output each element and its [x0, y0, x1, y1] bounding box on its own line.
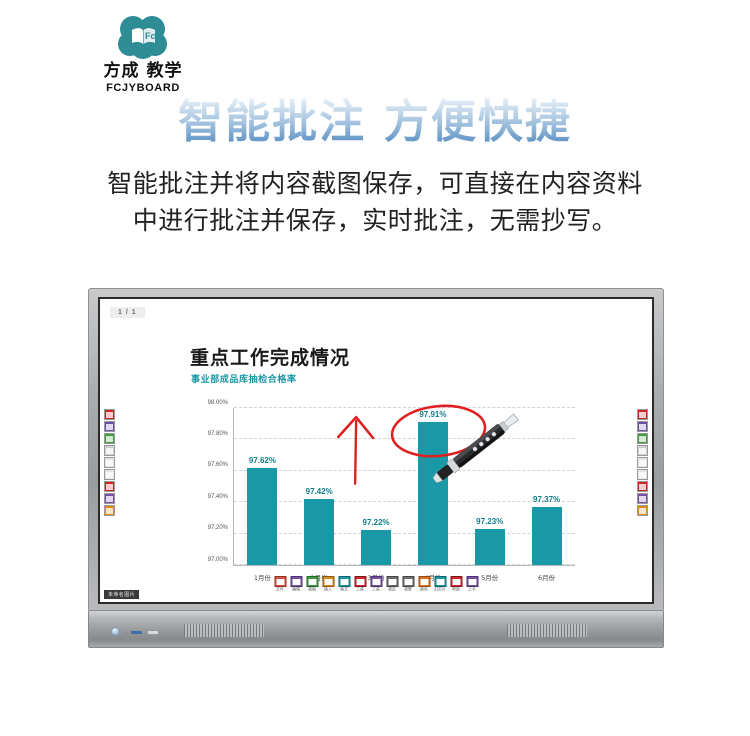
device-screen-frame: 1 / 1 未命名图片 重点工作完成情况 事业部成品库抽检合格率 98.00%9… — [98, 297, 654, 604]
bar-group: 97.22%3月份 — [348, 408, 405, 565]
toolbar-item[interactable]: 工具 — [354, 576, 367, 592]
device-chin — [88, 610, 664, 648]
status-led-b — [131, 631, 142, 634]
toolbar-item[interactable]: 格式 — [338, 576, 351, 592]
toolbar-item-label: 上手 — [464, 587, 480, 593]
y-axis-tick-label: 97.80% — [208, 431, 228, 437]
y-axis-tick-label: 97.60% — [208, 462, 228, 468]
screen[interactable]: 1 / 1 未命名图片 重点工作完成情况 事业部成品库抽检合格率 98.00%9… — [100, 299, 652, 602]
eraser-icon[interactable] — [637, 481, 648, 492]
speaker-grille-right — [507, 624, 587, 637]
toolbar-item[interactable]: 编辑 — [290, 576, 303, 592]
x-axis-tick-label: 1月份 — [254, 572, 271, 582]
toolbar-item-label: 格式 — [336, 587, 352, 593]
status-led-a — [125, 631, 127, 634]
toolbar-item-label: 视图 — [304, 587, 320, 593]
page-indicator: 1 / 1 — [110, 307, 145, 318]
speaker-grille-left — [184, 624, 264, 637]
subcopy-line-1: 智能批注并将内容截图保存，可直接在内容资料 — [0, 165, 750, 202]
y-axis-tick-label: 98.00% — [208, 400, 228, 406]
draw-icon[interactable] — [370, 576, 382, 587]
toolbar-item-label: 插入 — [320, 587, 336, 593]
screenshot-icon[interactable] — [637, 493, 648, 504]
screenshot-icon[interactable] — [104, 493, 115, 504]
save-icon[interactable] — [637, 505, 648, 516]
file-icon[interactable] — [274, 576, 286, 587]
left-tool-rail[interactable] — [104, 409, 115, 517]
bar-value-label: 97.22% — [362, 518, 389, 527]
device-bezel: 1 / 1 未命名图片 重点工作完成情况 事业部成品库抽检合格率 98.00%9… — [88, 288, 664, 612]
toolbar-item-label: 工具 — [368, 587, 384, 593]
color-grid-icon[interactable] — [418, 576, 430, 587]
toolbar-item-label: 视定 — [384, 587, 400, 593]
bar-value-label: 97.23% — [476, 517, 503, 526]
toolbar-item[interactable]: 上手 — [466, 576, 479, 592]
bar — [361, 530, 391, 565]
slides-icon[interactable] — [434, 576, 446, 587]
thin-line-icon[interactable] — [637, 445, 648, 456]
brand-name-en: FCJYBOARD — [78, 81, 208, 95]
toolbar-item[interactable]: 幻灯片 — [434, 576, 447, 592]
bar-value-label: 97.42% — [306, 487, 333, 496]
y-axis-tick-label: 97.20% — [208, 525, 228, 531]
bar-value-label: 97.37% — [533, 495, 560, 504]
bar — [304, 499, 334, 565]
view-icon[interactable] — [306, 576, 318, 587]
tools-icon[interactable] — [354, 576, 366, 587]
toolbar-item[interactable]: 视图 — [306, 576, 319, 592]
power-button[interactable] — [111, 627, 120, 636]
person-icon[interactable] — [466, 576, 478, 587]
save-icon[interactable] — [104, 505, 115, 516]
pen-tool-icon[interactable] — [637, 409, 648, 420]
ir-receiver — [147, 630, 159, 635]
insert-icon[interactable] — [322, 576, 334, 587]
toolbar-item[interactable]: 插入 — [322, 576, 335, 592]
slide-subtitle: 事业部成品库抽检合格率 — [191, 372, 297, 385]
x-axis-tick-label: 6月份 — [538, 572, 555, 582]
toolbar-item-label: 文件 — [272, 587, 288, 593]
highlighter-tool-icon[interactable] — [104, 421, 115, 432]
bottom-toolbar[interactable]: 文件编辑视图插入格式工具工具视定视野颜色幻灯片帮助上手 — [274, 576, 479, 592]
color-palette-icon[interactable] — [637, 433, 648, 444]
toolbar-item-label: 视野 — [400, 587, 416, 593]
toolbar-item-label: 颜色 — [416, 587, 432, 593]
undo-icon[interactable] — [104, 457, 115, 468]
toolbar-item-label: 帮助 — [448, 587, 464, 593]
brand-name-cn: 方成 教学 — [78, 62, 208, 81]
bar-value-label: 97.62% — [249, 456, 276, 465]
toolbar-item-label: 幻灯片 — [432, 587, 448, 593]
help-icon[interactable] — [450, 576, 462, 587]
slide-title: 重点工作完成情况 — [190, 343, 350, 370]
eraser-icon[interactable] — [104, 481, 115, 492]
toolbar-item-label: 编辑 — [288, 587, 304, 593]
edit-icon[interactable] — [290, 576, 302, 587]
right-tool-rail[interactable] — [637, 409, 648, 517]
page-headline: 智能批注 方便快捷 — [0, 95, 750, 149]
page-subcopy: 智能批注并将内容截图保存，可直接在内容资料 中进行批注并保存，实时批注，无需抄写… — [0, 165, 750, 239]
stylus-pen-icon — [415, 399, 535, 499]
status-badge: 未命名图片 — [104, 590, 139, 599]
color-palette-icon[interactable] — [104, 433, 115, 444]
toolbar-item[interactable]: 视定 — [386, 576, 399, 592]
redo-icon[interactable] — [104, 469, 115, 480]
bar — [247, 468, 277, 565]
undo-icon[interactable] — [637, 457, 648, 468]
x-axis-tick-label: 5月份 — [481, 572, 498, 582]
brand-logo: Fc 方成 教学 FCJYBOARD — [78, 16, 208, 92]
y-axis-tick-label: 97.40% — [208, 494, 228, 500]
bar-group: 97.62%1月份 — [234, 408, 291, 565]
flower-book-logo-icon: Fc — [118, 16, 168, 60]
bar — [532, 507, 562, 565]
text-lines-icon[interactable] — [386, 576, 398, 587]
bar-group: 97.42%2月份 — [291, 408, 348, 565]
bar — [475, 529, 505, 565]
redo-icon[interactable] — [637, 469, 648, 480]
svg-text:Fc: Fc — [145, 31, 156, 41]
subcopy-line-2: 中进行批注并保存，实时批注，无需抄写。 — [0, 202, 750, 239]
highlighter-tool-icon[interactable] — [637, 421, 648, 432]
book-icon: Fc — [131, 26, 156, 46]
toolbar-item[interactable]: 视野 — [402, 576, 415, 592]
thin-line-icon[interactable] — [104, 445, 115, 456]
pen-tool-icon[interactable] — [104, 409, 115, 420]
toolbar-item[interactable]: 文件 — [274, 576, 287, 592]
paragraph-icon[interactable] — [402, 576, 414, 587]
toolbar-item[interactable]: 工具 — [370, 576, 383, 592]
interactive-whiteboard-device: 1 / 1 未命名图片 重点工作完成情况 事业部成品库抽检合格率 98.00%9… — [88, 288, 664, 648]
format-icon[interactable] — [338, 576, 350, 587]
toolbar-item[interactable]: 颜色 — [418, 576, 431, 592]
y-axis-tick-label: 97.00% — [208, 557, 228, 563]
toolbar-item[interactable]: 帮助 — [450, 576, 463, 592]
toolbar-item-label: 工具 — [352, 587, 368, 593]
